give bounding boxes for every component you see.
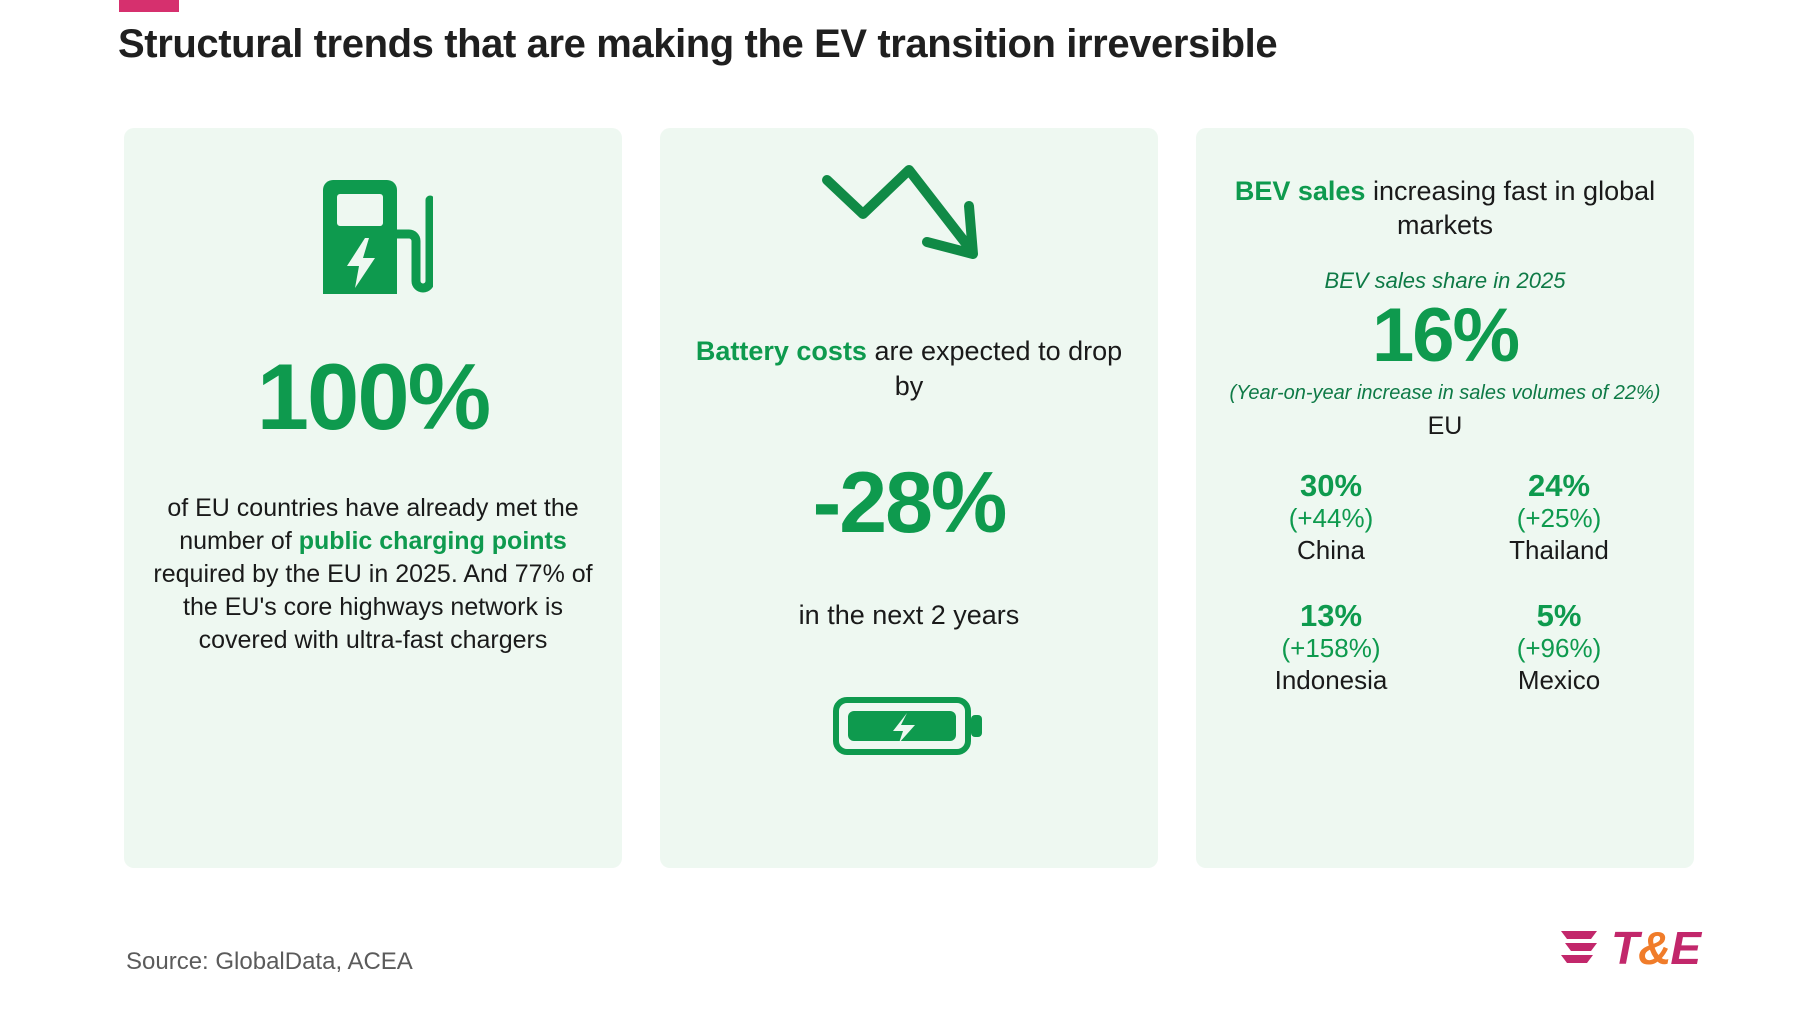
country-stats-grid: 30% (+44%) China 24% (+25%) Thailand 13%… (1222, 469, 1668, 697)
stat-pct: 13% (1222, 599, 1440, 633)
logo-letter-e: E (1670, 922, 1700, 974)
card2-lead-emphasis: Battery costs (696, 336, 867, 366)
page-title: Structural trends that are making the EV… (118, 22, 1718, 67)
card1-body: of EU countries have already met the num… (150, 492, 596, 657)
card1-body-emphasis: public charging points (299, 527, 567, 555)
battery-charging-icon (831, 691, 987, 761)
stat-item-china: 30% (+44%) China (1222, 469, 1440, 567)
card-battery-costs: Battery costs are expected to drop by -2… (660, 128, 1158, 868)
card3-headline-emphasis: BEV sales (1235, 176, 1366, 206)
cards-container: 100% of EU countries have already met th… (124, 128, 1694, 868)
ev-charging-station-icon (313, 176, 433, 302)
card-bev-sales: BEV sales increasing fast in global mark… (1196, 128, 1694, 868)
stat-country: Thailand (1450, 534, 1668, 567)
source-note: Source: GlobalData, ACEA (126, 948, 413, 976)
card3-subtitle: BEV sales share in 2025 (1222, 268, 1668, 294)
accent-bar (119, 0, 179, 12)
card3-big-number: 16% (1222, 296, 1668, 376)
stat-item-indonesia: 13% (+158%) Indonesia (1222, 599, 1440, 697)
card2-lead: Battery costs are expected to drop by (686, 334, 1132, 404)
stat-item-thailand: 24% (+25%) Thailand (1450, 469, 1668, 567)
stat-pct: 5% (1450, 599, 1668, 633)
te-wordmark: T&E (1611, 925, 1700, 971)
card3-region-label: EU (1222, 412, 1668, 441)
stat-country: China (1222, 534, 1440, 567)
stat-delta: (+25%) (1450, 503, 1668, 534)
card1-body-part-3: required by the EU in 2025. And 77% of t… (153, 560, 592, 654)
card3-headline: BEV sales increasing fast in global mark… (1222, 174, 1668, 242)
stat-pct: 24% (1450, 469, 1668, 503)
card2-tail: in the next 2 years (686, 600, 1132, 631)
stat-country: Indonesia (1222, 664, 1440, 697)
stat-delta: (+96%) (1450, 633, 1668, 664)
card1-headline: 100% (150, 350, 596, 444)
downward-trend-arrow-icon (819, 164, 999, 274)
te-logo: T&E (1557, 925, 1700, 971)
stat-pct: 30% (1222, 469, 1440, 503)
stat-item-mexico: 5% (+96%) Mexico (1450, 599, 1668, 697)
card2-lead-rest: are expected to drop by (867, 336, 1122, 401)
card3-note: (Year-on-year increase in sales volumes … (1222, 380, 1668, 406)
card-charging-points: 100% of EU countries have already met th… (124, 128, 622, 868)
stat-delta: (+158%) (1222, 633, 1440, 664)
logo-letter-t: T (1611, 922, 1638, 974)
logo-ampersand: & (1638, 922, 1670, 974)
card2-headline: -28% (686, 460, 1132, 546)
stat-country: Mexico (1450, 664, 1668, 697)
card3-headline-rest: increasing fast in global markets (1365, 176, 1655, 240)
te-speedlines-icon (1557, 925, 1601, 971)
stat-delta: (+44%) (1222, 503, 1440, 534)
